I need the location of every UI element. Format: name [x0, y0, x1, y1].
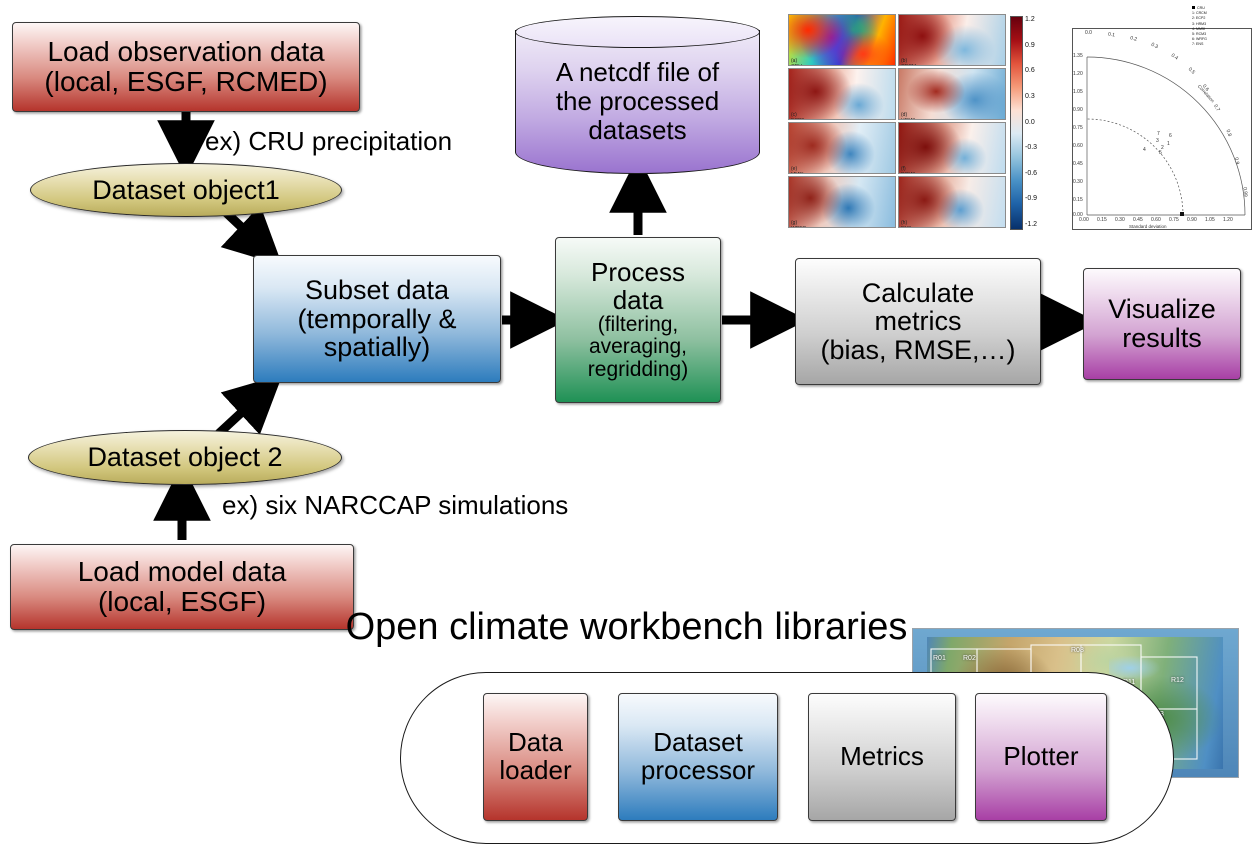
x-tick: 0.15 [1097, 217, 1107, 223]
panel-name: WRFG [791, 227, 806, 228]
region-label: R12 [1171, 677, 1184, 684]
x-tick: 1.20 [1223, 217, 1233, 223]
load-observation-line1: Load observation data [47, 37, 324, 67]
corr-tick: 0.1 [1108, 32, 1116, 39]
library-data-loader[interactable]: Data loader [483, 693, 588, 821]
dataset-object1-node[interactable]: Dataset object1 [30, 163, 342, 217]
edge-label-model: ex) six NARCCAP simulations [222, 490, 568, 521]
svg-text:3: 3 [1156, 138, 1159, 144]
cb-tick: -0.6 [1025, 170, 1037, 177]
subset-line1: Subset data [305, 276, 449, 305]
y-tick: 1.20 [1073, 71, 1083, 77]
process-line2: data [613, 287, 664, 315]
taylor-legend: CRU 1: CRCM 2: ECP2 3: HRM3 4: MM5I 5: R… [1192, 6, 1250, 48]
process-line1: Process [591, 259, 685, 287]
y-tick: 0.30 [1073, 179, 1083, 185]
calculate-metrics-node[interactable]: Calculate metrics (bias, RMSE,…) [795, 258, 1041, 385]
colorbar-gradient [1010, 16, 1023, 230]
netcdf-file-node[interactable]: A netcdf file of the processed datasets [515, 16, 760, 174]
x-tick: 0.75 [1169, 217, 1179, 223]
x-tick: 0.30 [1115, 217, 1125, 223]
dataset-object2-label: Dataset object 2 [87, 442, 282, 473]
bias-panel: (a) CRU [788, 14, 896, 66]
cb-tick: 0.6 [1025, 67, 1037, 74]
bias-panel: (c) ECP2 [788, 68, 896, 120]
cb-tick: -1.2 [1025, 221, 1037, 228]
colorbar-ticks: 1.2 0.9 0.6 0.3 0.0 -0.3 -0.6 -0.9 -1.2 [1023, 16, 1037, 228]
panel-name: ENS [901, 227, 911, 228]
netcdf-line2: the processed [556, 87, 719, 116]
subset-data-node[interactable]: Subset data (temporally & spatially) [253, 255, 501, 383]
panel-name: MM5I [791, 173, 804, 174]
netcdf-line1: A netcdf file of [556, 58, 719, 87]
process-line3: (filtering, [598, 314, 679, 336]
panel-name: HRM3 [901, 119, 915, 120]
bias-panel: (h) ENS [898, 176, 1006, 228]
library-label-line2: loader [499, 757, 571, 785]
libraries-title: Open climate workbench libraries [0, 606, 1253, 649]
y-tick: 0.75 [1073, 125, 1083, 131]
panel-name: CRU [791, 65, 802, 66]
library-label-line2: processor [641, 757, 755, 785]
region-label: R01 [933, 655, 946, 662]
bias-colorbar: 1.2 0.9 0.6 0.3 0.0 -0.3 -0.6 -0.9 -1.2 [1010, 16, 1037, 228]
library-label-line1: Plotter [1003, 743, 1078, 771]
panel-name: ECP2 [791, 119, 804, 120]
bias-panel: (b) CRCM [898, 14, 1006, 66]
visualize-results-node[interactable]: Visualize results [1083, 268, 1241, 380]
legend-item: 7: ENS [1192, 42, 1250, 47]
svg-text:7: 7 [1157, 131, 1160, 137]
taylor-xlabel: Standard deviation [1129, 224, 1167, 229]
x-tick: 0.00 [1079, 217, 1089, 223]
x-tick: 0.90 [1187, 217, 1197, 223]
load-observation-line2: (local, ESGF, RCMED) [44, 67, 327, 97]
bias-map-grid: (a) CRU (b) CRCM (c) ECP2 (d) HRM3 (e) M… [788, 14, 1006, 228]
cb-tick: 0.3 [1025, 93, 1037, 100]
corr-tick: 0.99 [1242, 187, 1249, 197]
netcdf-line3: datasets [588, 116, 686, 145]
visualize-line2: results [1122, 324, 1202, 353]
corr-tick: 0.9 [1233, 157, 1240, 165]
svg-text:1: 1 [1167, 141, 1170, 147]
subset-line2: (temporally & [297, 305, 456, 334]
bias-panel: (g) WRFG [788, 176, 896, 228]
cb-tick: 0.9 [1025, 42, 1037, 49]
y-tick: 0.90 [1073, 107, 1083, 113]
svg-text:5: 5 [1159, 150, 1162, 156]
corr-tick: 0.0 [1085, 30, 1092, 36]
y-tick: 1.35 [1073, 53, 1083, 59]
x-tick: 0.60 [1151, 217, 1161, 223]
visualize-line1: Visualize [1108, 295, 1216, 324]
subset-line3: spatially) [324, 333, 431, 362]
y-tick: 0.45 [1073, 161, 1083, 167]
library-metrics[interactable]: Metrics [808, 693, 956, 821]
y-tick: 0.15 [1073, 197, 1083, 203]
metrics-line1: Calculate [862, 279, 975, 308]
metrics-line3: (bias, RMSE,…) [820, 336, 1015, 365]
y-tick: 0.60 [1073, 143, 1083, 149]
load-model-line1: Load model data [78, 557, 287, 587]
cylinder-top-ellipse [515, 16, 760, 48]
load-observation-data-node[interactable]: Load observation data (local, ESGF, RCME… [12, 22, 360, 112]
region-label: R02 [963, 655, 976, 662]
y-tick: 1.05 [1073, 89, 1083, 95]
edge-label-obs: ex) CRU precipitation [205, 126, 452, 157]
x-tick: 0.45 [1133, 217, 1143, 223]
process-line5: regridding) [588, 359, 688, 381]
process-line4: averaging, [589, 336, 687, 358]
taylor-diagram-figure: 12 34 56 7 Standard deviation Correlatio… [1072, 28, 1252, 230]
library-plotter[interactable]: Plotter [975, 693, 1107, 821]
library-label-line1: Data [508, 729, 563, 757]
cb-tick: 1.2 [1025, 16, 1037, 23]
cb-tick: 0.0 [1025, 119, 1037, 126]
metrics-line2: metrics [875, 307, 962, 336]
cb-tick: -0.9 [1025, 195, 1037, 202]
svg-text:4: 4 [1143, 147, 1146, 153]
dataset-object2-node[interactable]: Dataset object 2 [28, 430, 342, 485]
bias-map-figure: (a) CRU (b) CRCM (c) ECP2 (d) HRM3 (e) M… [788, 14, 1033, 232]
process-data-node[interactable]: Process data (filtering, averaging, regr… [555, 237, 721, 403]
cb-tick: -0.3 [1025, 144, 1037, 151]
library-label-line1: Dataset [653, 729, 743, 757]
library-dataset-processor[interactable]: Dataset processor [618, 693, 778, 821]
dataset-object1-label: Dataset object1 [92, 175, 280, 206]
taylor-diagram-svg: 12 34 56 7 [1073, 29, 1251, 229]
bias-panel: (d) HRM3 [898, 68, 1006, 120]
x-tick: 1.05 [1205, 217, 1215, 223]
svg-text:6: 6 [1169, 133, 1172, 139]
library-label-line1: Metrics [840, 743, 924, 771]
panel-name: RCM3 [901, 173, 915, 174]
bias-panel: (e) MM5I [788, 122, 896, 174]
bias-panel: (f) RCM3 [898, 122, 1006, 174]
panel-name: CRCM [901, 65, 916, 66]
